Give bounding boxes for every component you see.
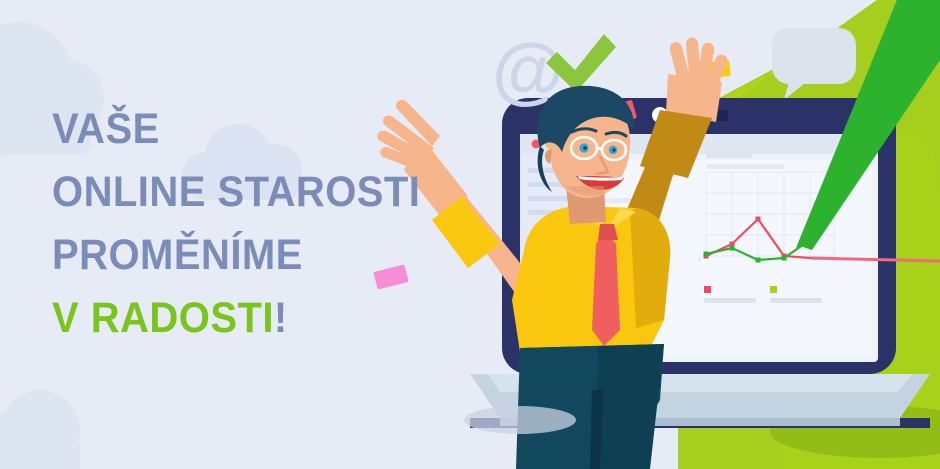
headline-line-1: VAŠE	[52, 98, 424, 161]
chart-axis-tick: 0	[698, 257, 701, 263]
character-eye-pupil	[583, 146, 587, 150]
legend-label-red-placeholder	[704, 298, 756, 303]
headline-line-3: PROMĚNÍME	[52, 224, 424, 287]
chart-subtitle-placeholder	[706, 164, 784, 169]
headline-block: VAŠE ONLINE STAROSTI PROMĚNÍME V RADOSTI…	[52, 98, 452, 350]
legend-label-green-placeholder	[770, 298, 822, 303]
character-trousers-right	[596, 344, 664, 469]
legend-swatch-green	[770, 286, 777, 293]
sidebar-placeholder-line	[528, 196, 572, 201]
character-tie	[592, 230, 620, 346]
cloud-bottom-base	[0, 432, 80, 469]
character-eye-pupil	[612, 148, 615, 151]
character-floor-shadow	[464, 406, 576, 434]
headline-line-4-text: V RADOSTI	[52, 294, 274, 342]
chart-title-placeholder	[706, 152, 752, 158]
headline-exclamation: !	[274, 294, 288, 342]
headline-line-4: V RADOSTI!	[52, 287, 424, 350]
headline-line-2: ONLINE STAROSTI	[52, 161, 424, 224]
legend-swatch-red	[704, 286, 711, 293]
promotional-banner: 0	[0, 0, 940, 469]
